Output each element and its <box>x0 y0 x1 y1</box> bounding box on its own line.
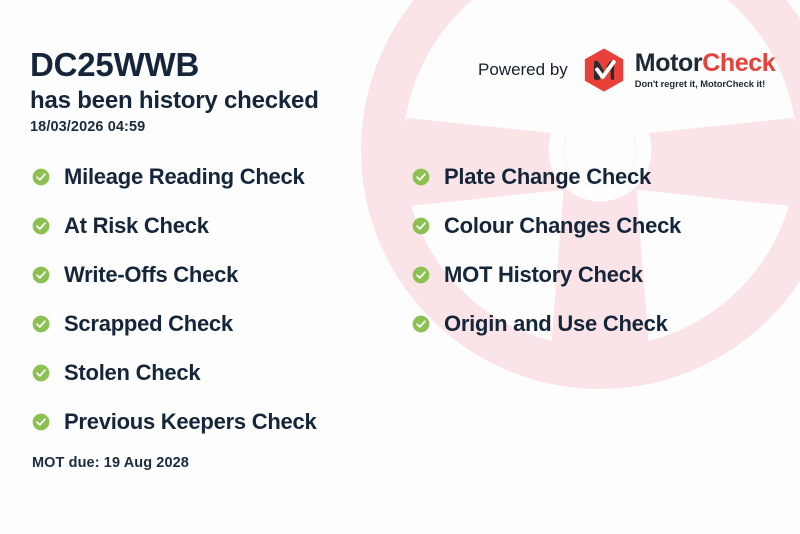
check-circle-icon <box>412 266 430 284</box>
check-circle-icon <box>32 168 50 186</box>
check-circle-icon <box>32 413 50 431</box>
check-list-item[interactable]: MOT History Check <box>412 260 681 290</box>
check-list-item[interactable]: Origin and Use Check <box>412 309 681 339</box>
check-label: Previous Keepers Check <box>64 411 317 433</box>
wordmark-check: Check <box>702 49 775 77</box>
check-list-item[interactable]: Stolen Check <box>32 358 317 388</box>
check-label: Colour Changes Check <box>444 215 681 237</box>
check-circle-icon <box>412 315 430 333</box>
motorcheck-hexagon-icon <box>581 47 627 93</box>
check-list-item[interactable]: Mileage Reading Check <box>32 162 317 192</box>
wordmark-motor: Motor <box>635 49 702 77</box>
powered-by-label: Powered by <box>478 60 568 80</box>
check-label: Scrapped Check <box>64 313 233 335</box>
check-list-item[interactable]: Scrapped Check <box>32 309 317 339</box>
check-list-item[interactable]: Plate Change Check <box>412 162 681 192</box>
check-circle-icon <box>32 217 50 235</box>
powered-by-lockup: Powered by MotorCheck Don't regret it, M… <box>478 45 775 95</box>
check-list-item[interactable]: Write-Offs Check <box>32 260 317 290</box>
check-list-item[interactable]: At Risk Check <box>32 211 317 241</box>
checks-column-right: Plate Change Check Colour Changes Check … <box>412 162 681 339</box>
motorcheck-wordmark: MotorCheck <box>635 51 775 76</box>
check-circle-icon <box>32 266 50 284</box>
mot-due-note: MOT due: 19 Aug 2028 <box>32 455 189 471</box>
check-label: MOT History Check <box>444 264 643 286</box>
checks-column-left: Mileage Reading Check At Risk Check Writ… <box>32 162 317 437</box>
check-label: Mileage Reading Check <box>64 166 305 188</box>
motorcheck-tagline: Don't regret it, MotorCheck it! <box>635 79 775 88</box>
history-checked-status: has been history checked <box>30 88 319 114</box>
motorcheck-wordmark-block: MotorCheck Don't regret it, MotorCheck i… <box>635 51 775 88</box>
check-circle-icon <box>412 168 430 186</box>
checked-timestamp: 18/03/2026 04:59 <box>30 119 145 135</box>
check-label: Stolen Check <box>64 362 200 384</box>
check-label: Origin and Use Check <box>444 313 668 335</box>
check-list-item[interactable]: Previous Keepers Check <box>32 407 317 437</box>
motorcheck-logo[interactable]: MotorCheck Don't regret it, MotorCheck i… <box>581 47 775 93</box>
check-label: Write-Offs Check <box>64 264 238 286</box>
check-circle-icon <box>32 364 50 382</box>
check-circle-icon <box>32 315 50 333</box>
check-circle-icon <box>412 217 430 235</box>
check-label: Plate Change Check <box>444 166 651 188</box>
check-list-item[interactable]: Colour Changes Check <box>412 211 681 241</box>
vehicle-history-banner: DC25WWB has been history checked 18/03/2… <box>0 0 800 534</box>
registration-plate-heading: DC25WWB <box>30 48 199 83</box>
check-label: At Risk Check <box>64 215 209 237</box>
